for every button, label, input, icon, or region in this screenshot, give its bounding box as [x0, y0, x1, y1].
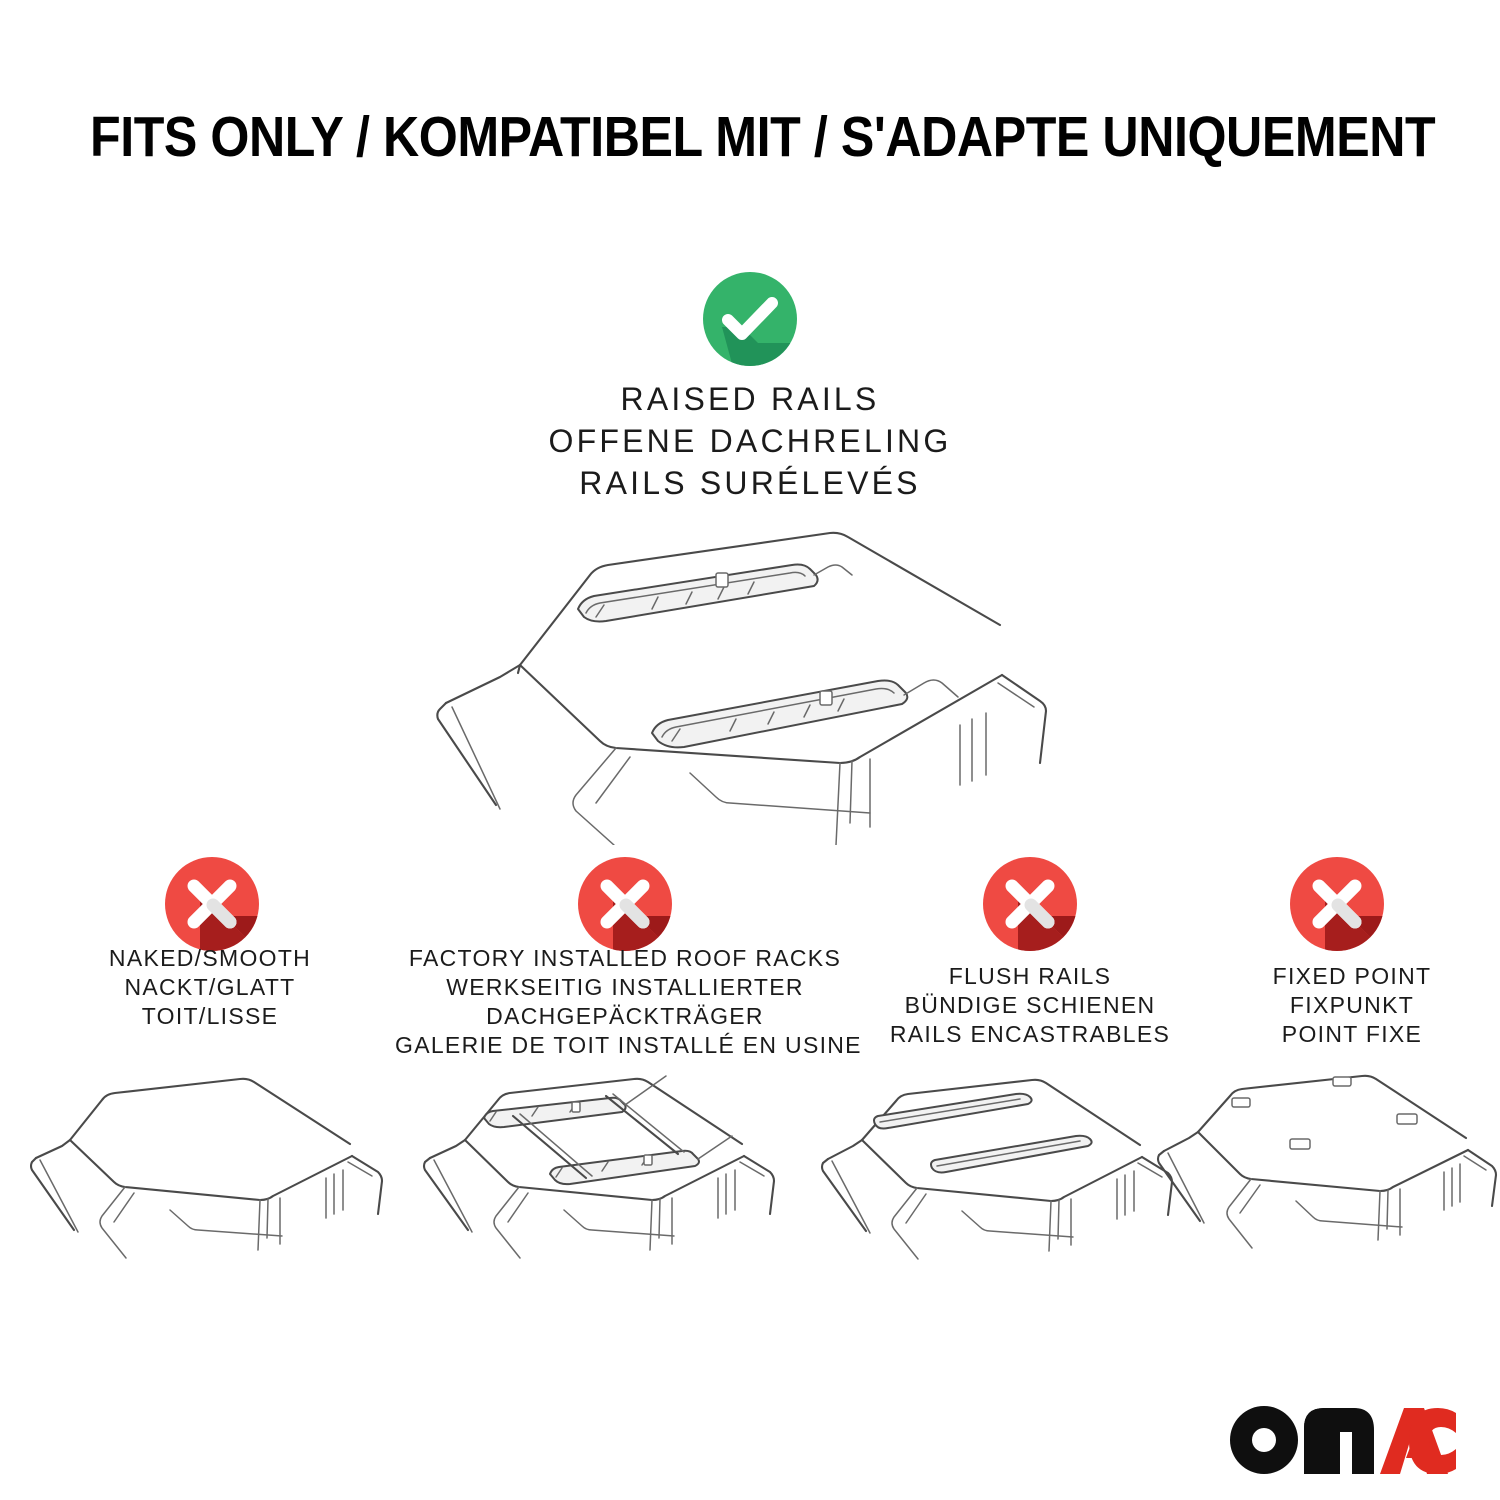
car-roof-naked-smooth-illustration [30, 1060, 420, 1300]
column-caption-factory-roof-racks: FACTORY INSTALLED ROOF RACKS WERKSEITIG … [395, 944, 855, 1060]
cross-circle-icon [1285, 852, 1389, 956]
hero-caption-line: OFFENE DACHRELING [0, 420, 1500, 462]
car-roof-fixed-point-illustration [1150, 1060, 1500, 1300]
caption-line: RAILS ENCASTRABLES [855, 1020, 1205, 1049]
check-circle-icon [698, 267, 802, 371]
caption-line: BÜNDIGE SCHIENEN [855, 991, 1205, 1020]
cross-circle-icon [978, 852, 1082, 956]
caption-line: GALERIE DE TOIT INSTALLÉ EN USINE [395, 1031, 855, 1060]
cross-circle-icon [573, 852, 677, 956]
caption-line: POINT FIXE [1207, 1020, 1497, 1049]
hero-caption-line: RAILS SURÉLEVÉS [0, 462, 1500, 504]
page-title: FITS ONLY / KOMPATIBEL MIT / S'ADAPTE UN… [90, 104, 1410, 170]
caption-line: NAKED/SMOOTH [0, 944, 420, 973]
caption-line: FIXPUNKT [1207, 991, 1497, 1020]
caption-line: TOIT/LISSE [0, 1002, 420, 1031]
car-roof-factory-roof-racks-illustration [420, 1058, 810, 1298]
caption-line: NACKT/GLATT [0, 973, 420, 1002]
caption-line: FIXED POINT [1207, 962, 1497, 991]
caption-line: DACHGEPÄCKTRÄGER [395, 1002, 855, 1031]
column-caption-fixed-point: FIXED POINT FIXPUNKT POINT FIXE [1207, 962, 1497, 1049]
caption-line: WERKSEITIG INSTALLIERTER [395, 973, 855, 1002]
caption-line: FACTORY INSTALLED ROOF RACKS [395, 944, 855, 973]
omac-logo [1228, 1404, 1458, 1474]
hero-caption-line: RAISED RAILS [0, 378, 1500, 420]
cross-circle-icon [160, 852, 264, 956]
column-caption-naked-smooth: NAKED/SMOOTH NACKT/GLATT TOIT/LISSE [0, 944, 420, 1031]
hero-caption: RAISED RAILS OFFENE DACHRELING RAILS SUR… [0, 378, 1500, 504]
caption-line: FLUSH RAILS [855, 962, 1205, 991]
car-roof-raised-rails-illustration [400, 505, 1100, 845]
column-caption-flush-rails: FLUSH RAILS BÜNDIGE SCHIENEN RAILS ENCAS… [855, 962, 1205, 1049]
